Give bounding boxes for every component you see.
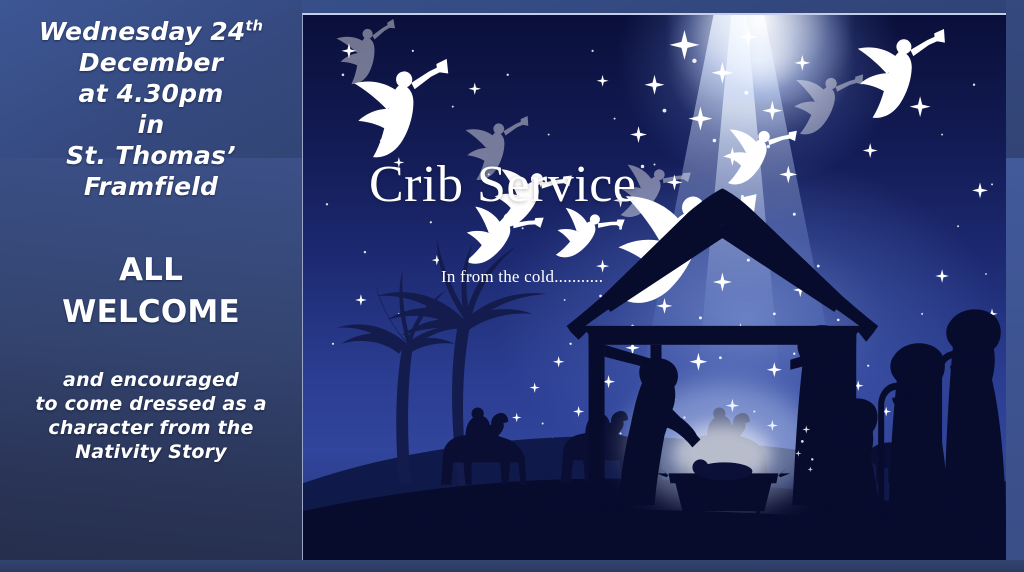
event-details-block: Wednesday 24th December at 4.30pm in St.… (0, 16, 302, 202)
event-line-date: Wednesday 24th (0, 16, 302, 47)
event-line-church: St. Thomas’ (0, 140, 302, 171)
foreground-sparkles (303, 15, 1006, 560)
picture-subtitle: In from the cold........... (441, 267, 603, 287)
background-band-right-top (1006, 0, 1024, 158)
note-line-2: to come dressed as a (0, 392, 302, 416)
event-line-in: in (0, 109, 302, 140)
left-text-column: Wednesday 24th December at 4.30pm in St.… (0, 0, 302, 572)
poster-slide: Wednesday 24th December at 4.30pm in St.… (0, 0, 1024, 572)
dress-up-note: and encouraged to come dressed as a char… (0, 368, 302, 464)
picture-title: Crib Service (369, 155, 636, 214)
welcome-line-2: WELCOME (0, 291, 302, 333)
nativity-image-panel: Crib Service In from the cold........... (302, 13, 1006, 560)
event-line-place: Framfield (0, 171, 302, 202)
event-line-time: at 4.30pm (0, 78, 302, 109)
note-line-3: character from the (0, 416, 302, 440)
date-ordinal-suffix: th (246, 19, 264, 35)
background-band-right-bottom (1006, 158, 1024, 572)
event-line-month: December (0, 47, 302, 78)
note-line-1: and encouraged (0, 368, 302, 392)
all-welcome-heading: ALL WELCOME (0, 249, 302, 333)
welcome-line-1: ALL (0, 249, 302, 291)
note-line-4: Nativity Story (0, 440, 302, 464)
